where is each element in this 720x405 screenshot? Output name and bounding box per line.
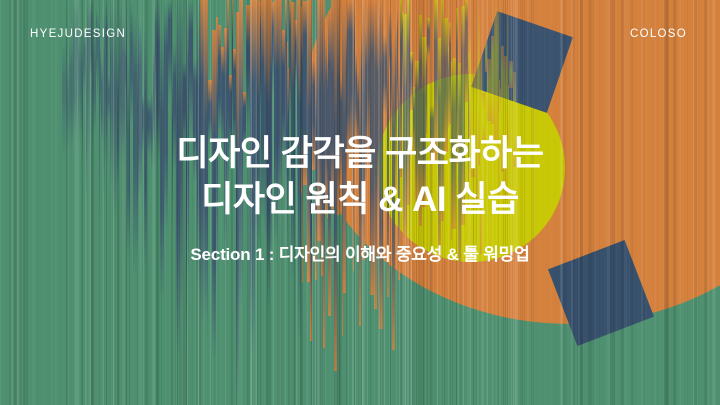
- title-line-1: 디자인 감각을 구조화하는: [0, 131, 720, 177]
- page-title: 디자인 감각을 구조화하는 디자인 원칙 & AI 실습: [0, 131, 720, 223]
- brand-label-left: HYEJUDESIGN: [30, 28, 126, 40]
- brand-label-right: COLOSO: [630, 28, 687, 40]
- title-line-2: 디자인 원칙 & AI 실습: [0, 177, 720, 223]
- presentation-title-slide: HYEJUDESIGN COLOSO 디자인 감각을 구조화하는 디자인 원칙 …: [0, 0, 720, 405]
- section-subtitle: Section 1 : 디자인의 이해와 중요성 & 툴 워밍업: [0, 240, 720, 265]
